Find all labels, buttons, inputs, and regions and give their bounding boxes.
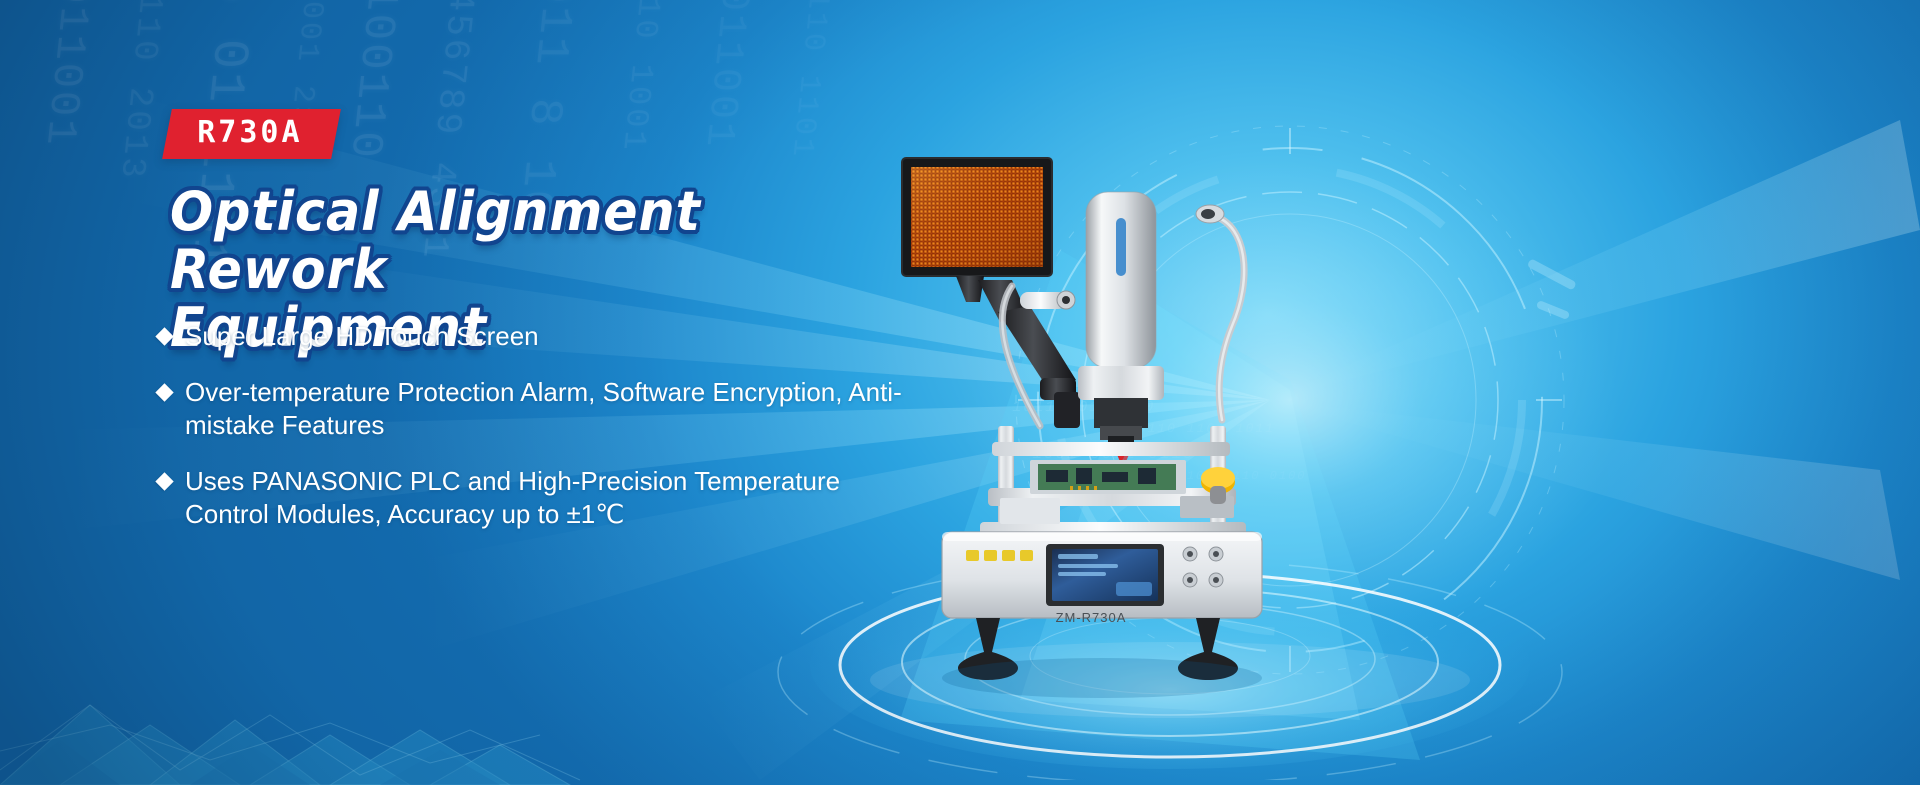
diamond-bullet-icon: [155, 383, 173, 401]
diamond-bullet-icon: [155, 327, 173, 345]
feature-text: Super Large HD Touch Screen: [185, 320, 903, 353]
diamond-bullet-icon: [155, 472, 173, 490]
ir-heater-panel: [902, 158, 1052, 276]
product-image-rework-station: Seamark ZM: [880, 130, 1340, 720]
feature-text: Over-temperature Protection Alarm, Softw…: [185, 376, 903, 442]
list-item: Super Large HD Touch Screen: [158, 320, 903, 353]
product-banner: 1011001 0110 2013 45 01 1101 1001 234 01…: [0, 0, 1920, 785]
hd-touch-screen: [1046, 544, 1164, 606]
camera-sensor: [1020, 291, 1075, 309]
list-item: Over-temperature Protection Alarm, Softw…: [158, 376, 903, 442]
model-badge-label: R730A: [197, 118, 302, 148]
feature-text: Uses PANASONIC PLC and High-Precision Te…: [185, 465, 903, 531]
list-item: Uses PANASONIC PLC and High-Precision Te…: [158, 465, 903, 531]
product-nameplate: ZM-R730A: [1056, 610, 1127, 625]
banner-text-content: R730A Optical Alignment Rework Equipment…: [0, 0, 920, 785]
machine-column: [1086, 192, 1156, 368]
model-badge: R730A: [167, 109, 336, 159]
feature-list: Super Large HD Touch Screen Over-tempera…: [158, 320, 903, 554]
gooseneck-lamp: [1196, 205, 1244, 420]
